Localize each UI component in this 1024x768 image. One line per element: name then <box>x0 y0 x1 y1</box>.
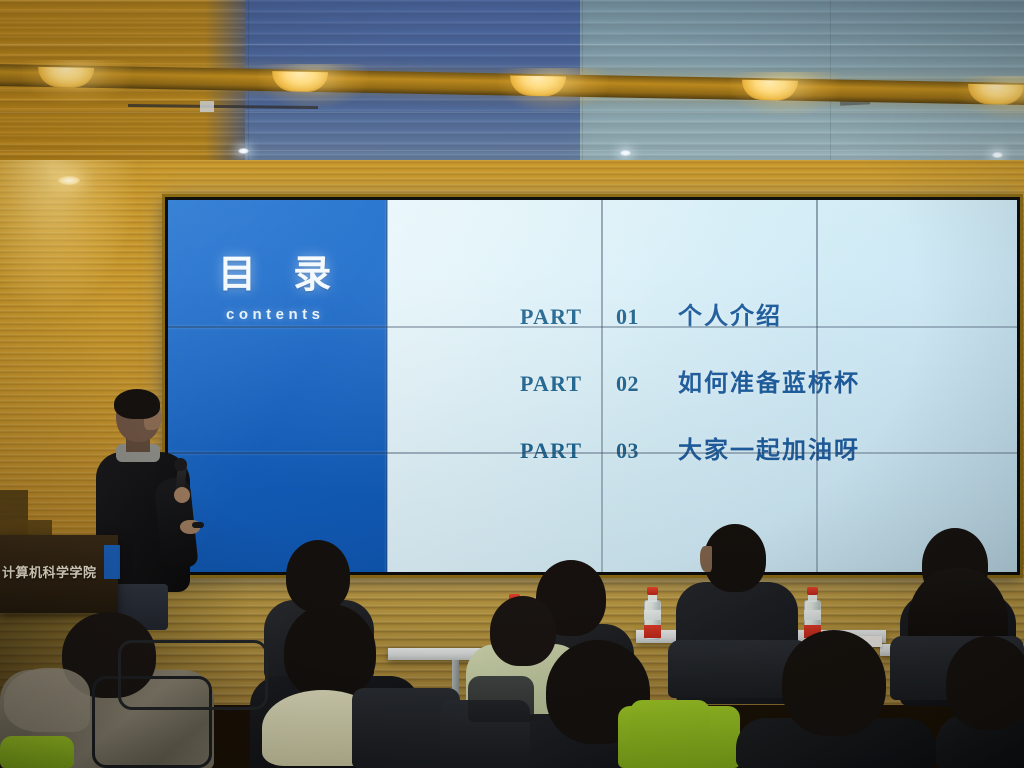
audience-hood <box>4 668 90 732</box>
ceiling-uplight <box>742 80 798 101</box>
toc-item-title: 大家一起加油呀 <box>678 430 860 465</box>
slide-title-english: contents <box>226 306 386 323</box>
ceiling-downlight <box>992 152 1003 158</box>
audience-member-foreground <box>736 630 936 768</box>
video-wall-seam-vertical <box>816 200 818 572</box>
bottle-label-red <box>644 625 661 638</box>
ceiling-uplight <box>510 76 566 97</box>
presenter-remote <box>192 522 204 528</box>
chair <box>468 676 534 722</box>
ceiling-downlight <box>620 150 631 156</box>
podium-department-sign: 计算机科学学院 <box>2 562 118 581</box>
bottle-cap <box>807 587 818 595</box>
ceiling-uplight <box>38 67 94 88</box>
presenter-hand-mic <box>174 487 190 503</box>
chair-green <box>630 700 710 768</box>
toc-item-number: 03 <box>616 438 678 464</box>
audience-head <box>286 540 350 612</box>
toc-item: PART 01 个人介绍 <box>520 296 940 344</box>
bottle-label-upper <box>644 610 661 620</box>
video-wall-seam-horizontal <box>168 452 1017 454</box>
toc-item: PART 02 如何准备蓝桥杯 <box>520 363 940 411</box>
wall-downlight <box>58 176 80 185</box>
toc-item-number: 02 <box>616 371 678 397</box>
bottle-label-upper <box>804 610 821 620</box>
ceiling-seam <box>0 112 1024 113</box>
chair-frame <box>118 640 268 710</box>
presentation-slide: 目 录 contents PART 01 个人介绍 PART 02 如何准备蓝桥… <box>168 200 1017 572</box>
ceiling-rail-bracket <box>200 101 214 112</box>
bottle-cap <box>647 587 658 595</box>
video-wall-seam-vertical <box>601 200 603 572</box>
ceiling-seam <box>0 44 1024 45</box>
video-wall-seam-horizontal <box>168 326 1017 328</box>
audience-head <box>946 636 1024 730</box>
ceiling-downlight <box>238 148 249 154</box>
microphone-head <box>174 458 187 471</box>
toc-item-title: 如何准备蓝桥杯 <box>678 363 860 398</box>
slide-title-chinese: 目 录 <box>218 255 378 293</box>
chair-green <box>0 736 74 768</box>
video-wall-seam-vertical <box>386 200 388 572</box>
toc-item: PART 03 大家一起加油呀 <box>520 430 940 478</box>
video-wall-display[interactable]: 目 录 contents PART 01 个人介绍 PART 02 如何准备蓝桥… <box>165 197 1020 575</box>
ceiling-seam <box>0 150 1024 151</box>
presenter-hair <box>114 389 160 419</box>
ceiling-uplight <box>968 84 1024 105</box>
lecture-hall-photo: 目 录 contents PART 01 个人介绍 PART 02 如何准备蓝桥… <box>0 0 1024 768</box>
water-bottle <box>644 588 661 640</box>
ceiling-uplight <box>272 71 328 92</box>
audience-head <box>284 604 376 700</box>
audience-head <box>782 630 886 736</box>
audience-member-foreground <box>936 636 1024 768</box>
audience-ear <box>700 546 712 572</box>
audience-head <box>704 524 766 592</box>
